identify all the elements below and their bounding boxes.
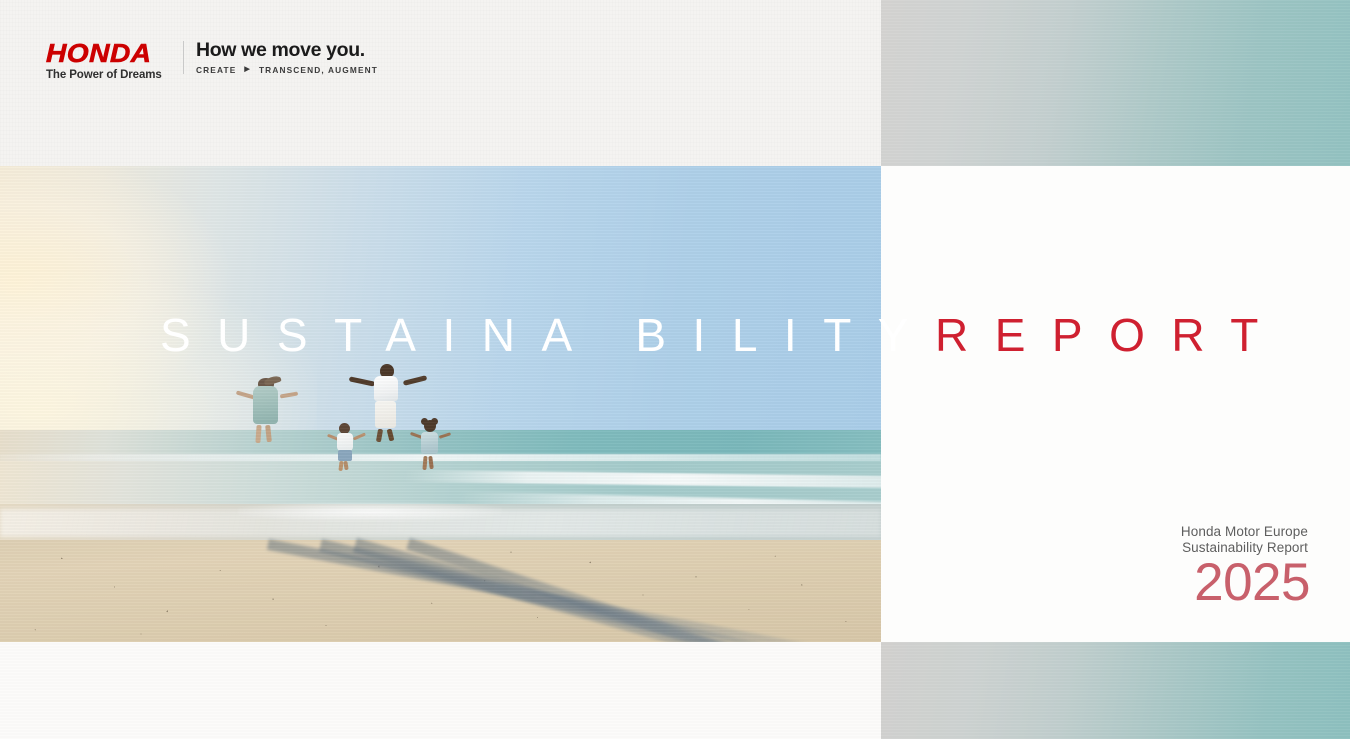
woman-dress — [253, 386, 278, 424]
slogan-subline: CREATE ▶ TRANSCEND, AUGMENT — [196, 65, 378, 75]
slogan-headline: How we move you. — [196, 39, 378, 62]
man-arm-right — [403, 375, 427, 385]
top-right-gradient-panel — [881, 0, 1350, 166]
girl-leg-right — [428, 456, 434, 469]
cover-title-sustainability: SUSTAINA BILITY — [160, 309, 935, 361]
header-divider — [183, 41, 184, 74]
boy-shorts — [338, 450, 352, 461]
girl-leg-left — [422, 456, 428, 470]
woman-arm-right — [280, 391, 298, 398]
boy-leg-right — [344, 461, 349, 471]
cover-header: HONDA The Power of Dreams How we move yo… — [0, 0, 881, 166]
man-leg-left — [376, 428, 383, 442]
bottom-paper-band — [0, 642, 881, 739]
girl-arm-right — [438, 433, 450, 440]
photo-family-group — [0, 166, 881, 642]
brand-slogan: How we move you. CREATE ▶ TRANSCEND, AUG… — [196, 39, 378, 75]
woman-leg-left — [256, 425, 262, 443]
man-shirt — [374, 376, 398, 401]
honda-wordmark: HONDA — [46, 40, 181, 66]
figure-woman — [235, 378, 297, 444]
woman-leg-right — [265, 425, 272, 442]
cover-page: HONDA The Power of Dreams How we move yo… — [0, 0, 1350, 739]
man-arm-left — [348, 376, 374, 386]
beach-hero-photo — [0, 166, 881, 642]
cover-title: SUSTAINA BILITYREPORT — [160, 309, 1285, 361]
slogan-transcend-label: TRANSCEND, AUGMENT — [259, 65, 378, 75]
report-organisation: Honda Motor Europe — [1181, 524, 1308, 540]
man-trousers — [375, 401, 396, 428]
report-meta-block: Honda Motor Europe Sustainability Report — [1181, 524, 1308, 556]
honda-logo: HONDA The Power of Dreams — [46, 40, 171, 82]
figure-girl — [407, 418, 451, 472]
cover-title-report: REPORT — [935, 309, 1285, 361]
honda-tagline: The Power of Dreams — [46, 69, 171, 82]
slogan-create-label: CREATE — [196, 65, 236, 75]
bottom-right-gradient-panel — [881, 642, 1350, 739]
arrow-right-icon: ▶ — [244, 65, 251, 75]
girl-head — [424, 420, 436, 432]
man-leg-right — [386, 428, 394, 441]
report-year: 2025 — [1194, 554, 1310, 612]
girl-dress — [421, 432, 438, 454]
